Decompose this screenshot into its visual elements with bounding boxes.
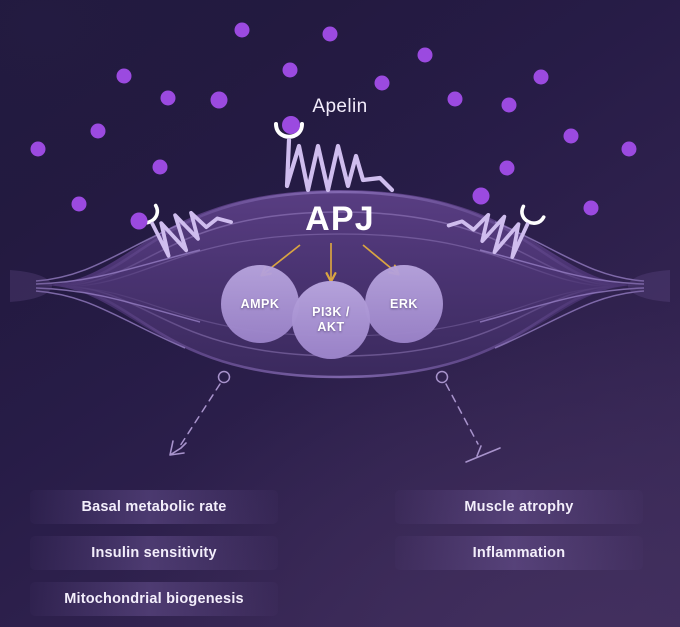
outcome-label: Muscle atrophy — [464, 499, 573, 515]
outcome-label: Basal metabolic rate — [81, 499, 226, 515]
outcome-label: Inflammation — [473, 545, 566, 561]
outcome-label: Insulin sensitivity — [91, 545, 216, 561]
connector-origin-dot-left — [219, 372, 230, 383]
outcome-pill-insulin-sensitivity[interactable]: Insulin sensitivity — [30, 536, 278, 570]
connector-origin-dot-right — [437, 372, 448, 383]
arrow-down-icon — [170, 441, 186, 455]
outcome-label: Mitochondrial biogenesis — [64, 591, 244, 607]
pathway-diagram: Apelin APJ AMPK ERK PI3K / AKT — [0, 0, 680, 627]
outcome-pill-mitochondrial-biogenesis[interactable]: Mitochondrial biogenesis — [30, 582, 278, 616]
outcome-pill-muscle-atrophy[interactable]: Muscle atrophy — [395, 490, 643, 524]
outcome-connectors — [0, 0, 680, 627]
connector-line-left — [180, 384, 220, 446]
outcome-pill-inflammation[interactable]: Inflammation — [395, 536, 643, 570]
connector-line-right — [446, 384, 478, 444]
inhibition-tbar-icon — [466, 446, 500, 462]
outcome-pill-basal-metabolic-rate[interactable]: Basal metabolic rate — [30, 490, 278, 524]
